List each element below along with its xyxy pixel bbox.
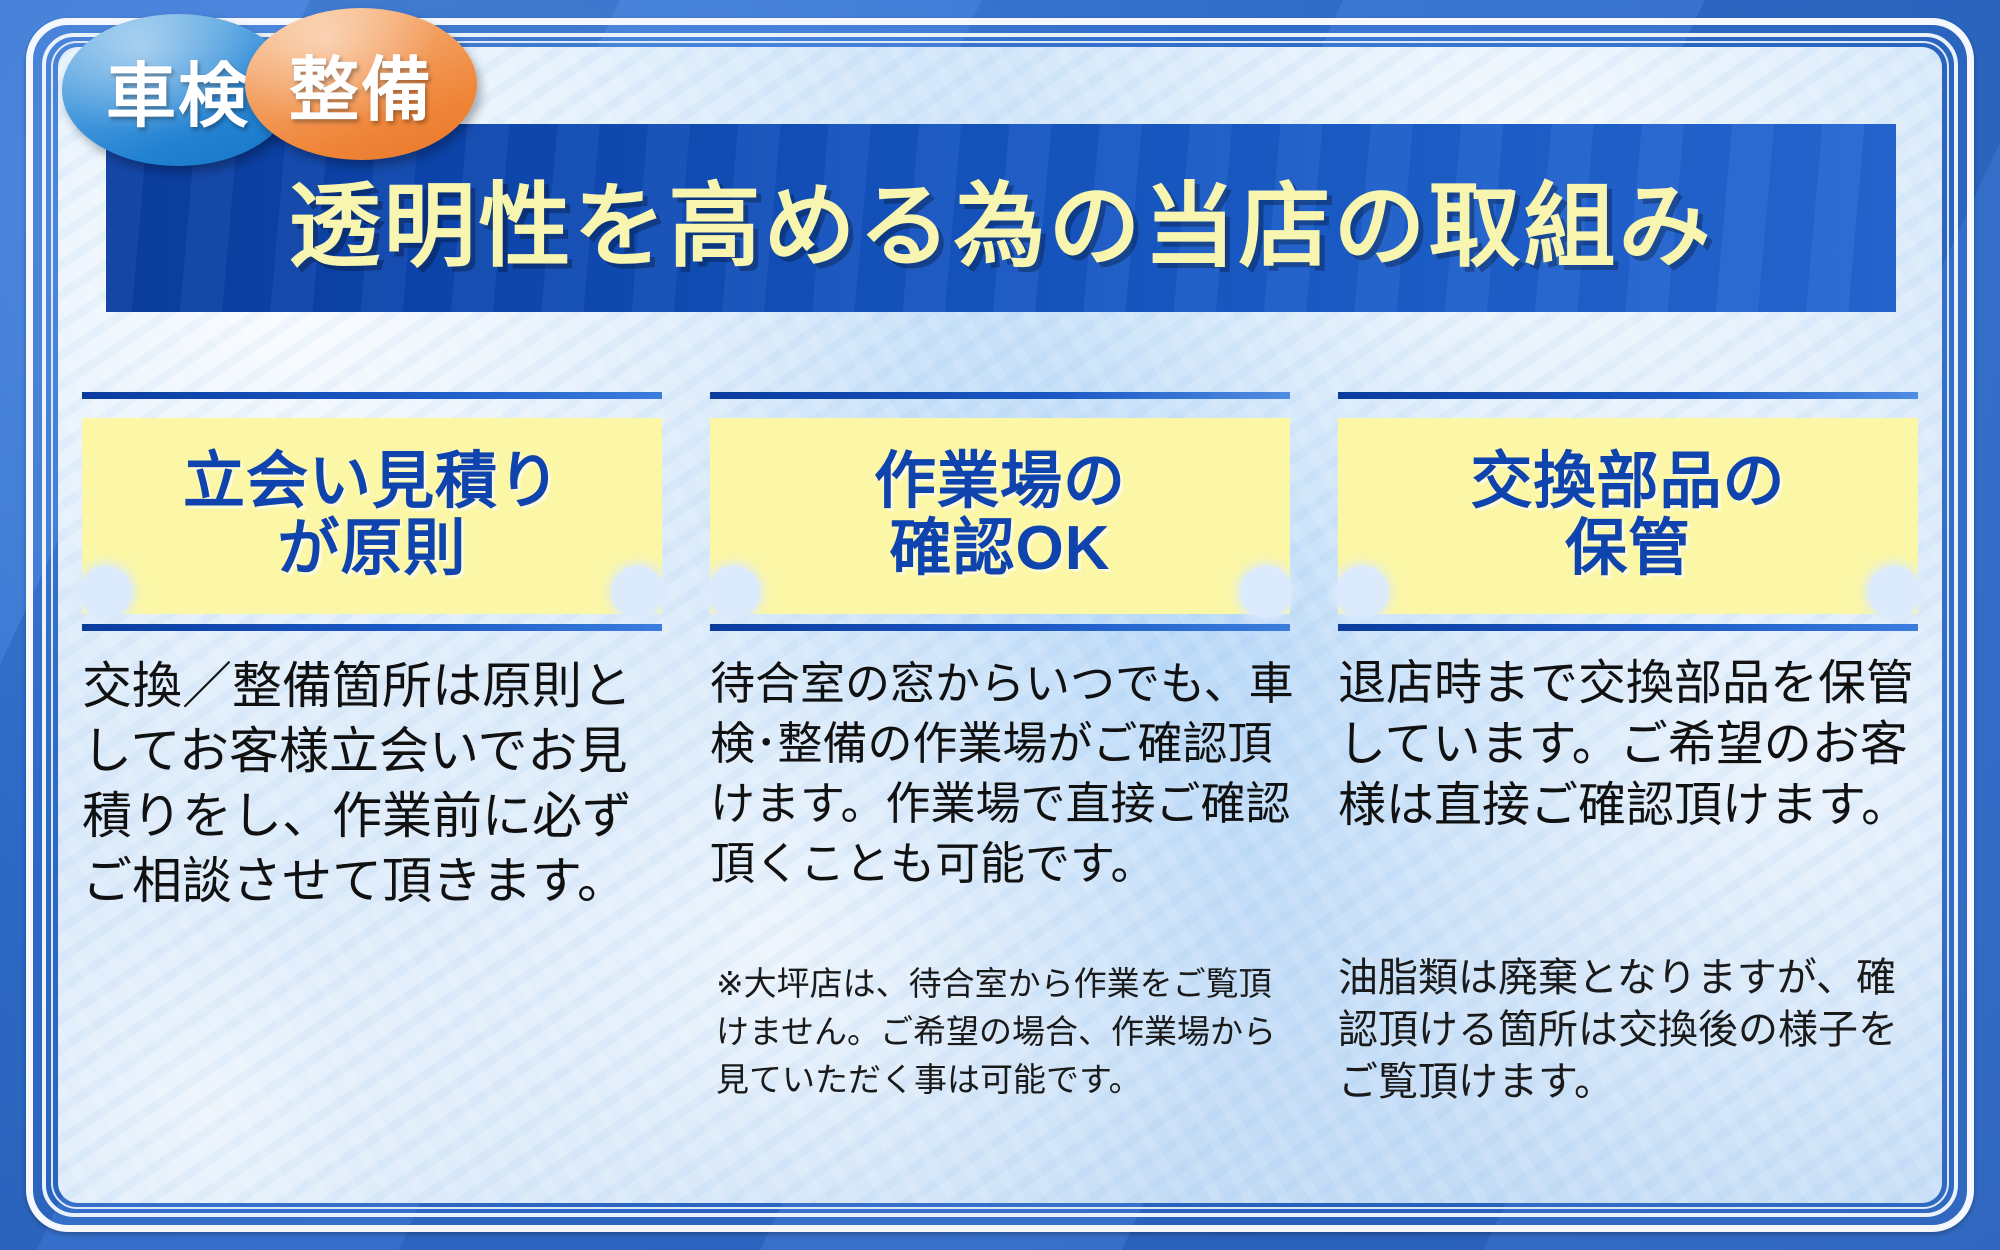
column-2-footnote: ※大坪店は、待合室から作業をご覧頂けません。ご希望の場合、作業場から見ていただく… — [716, 960, 1298, 1105]
column-2-heading-line-1: 作業場の — [874, 449, 1126, 516]
column-2-body: 待合室の窓からいつでも、車検･整備の作業場がご確認頂けます。作業場で直接ご確認頂… — [710, 654, 1296, 893]
column-2-notch-right-icon — [1240, 566, 1292, 618]
column-1-notch-right-icon — [612, 566, 664, 618]
column-3-heading-box: 交換部品の 保管 — [1338, 418, 1918, 614]
feature-column-3: 交換部品の 保管 退店時まで交換部品を保管しています。ご希望のお客様は直接ご確認… — [1314, 392, 1942, 1203]
column-2-heading-line-2: 確認OK — [889, 516, 1110, 583]
column-1-bottom-rule — [82, 624, 662, 631]
column-2-notch-left-icon — [708, 566, 760, 618]
column-2-top-rule — [710, 392, 1290, 399]
feature-columns: 立会い見積り が原則 交換／整備箇所は原則としてお客様立会いでお見積りをし、作業… — [58, 392, 1942, 1203]
badge-maintenance-label: 整備 — [289, 34, 433, 135]
column-1-heading-line-2: が原則 — [277, 516, 466, 583]
page-title: 透明性を高める為の当店の取組み — [288, 152, 1713, 285]
column-3-notch-right-icon — [1868, 566, 1920, 618]
feature-column-2: 作業場の 確認OK 待合室の窓からいつでも、車検･整備の作業場がご確認頂けます。… — [686, 392, 1314, 1203]
column-3-notch-left-icon — [1336, 566, 1388, 618]
feature-column-1: 立会い見積り が原則 交換／整備箇所は原則としてお客様立会いでお見積りをし、作業… — [58, 392, 686, 1203]
badge-maintenance: 整備 — [245, 8, 477, 160]
column-3-top-rule — [1338, 392, 1918, 399]
column-1-heading-line-1: 立会い見積り — [183, 449, 561, 516]
column-1-heading-box: 立会い見積り が原則 — [82, 418, 662, 614]
column-3-body: 退店時まで交換部品を保管しています。ご希望のお客様は直接ご確認頂けます。 — [1338, 654, 1924, 837]
column-1-body: 交換／整備箇所は原則としてお客様立会いでお見積りをし、作業前に必ずご相談させて頂… — [82, 654, 668, 914]
column-2-heading-box: 作業場の 確認OK — [710, 418, 1290, 614]
badge-vehicle-inspection-label: 車検 — [106, 40, 250, 141]
column-1-top-rule — [82, 392, 662, 399]
poster-background: 透明性を高める為の当店の取組み 車検 整備 立会い見積り が原則 交換／整備箇所… — [0, 0, 2000, 1250]
column-3-heading-line-1: 交換部品の — [1470, 449, 1785, 516]
column-2-bottom-rule — [710, 624, 1290, 631]
column-3-footnote: 油脂類は廃棄となりますが、確認頂ける箇所は交換後の様子をご覧頂けます。 — [1338, 952, 1926, 1108]
column-3-heading-line-2: 保管 — [1565, 516, 1691, 583]
column-3-bottom-rule — [1338, 624, 1918, 631]
column-1-notch-left-icon — [80, 566, 132, 618]
